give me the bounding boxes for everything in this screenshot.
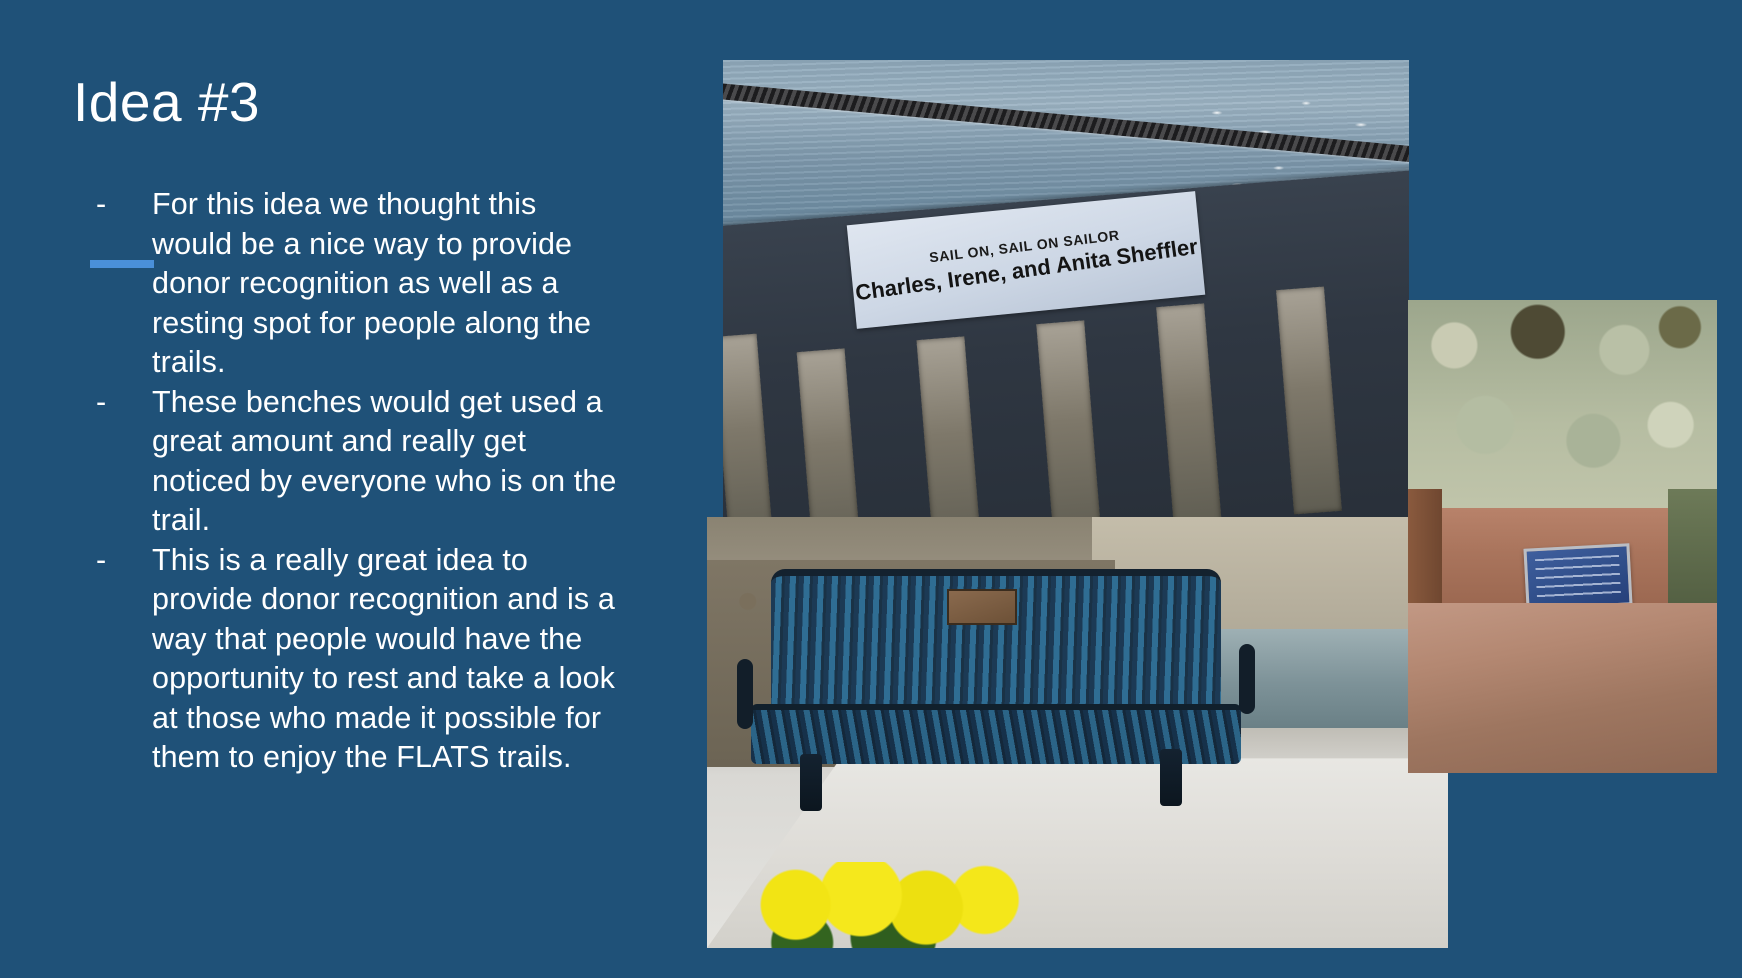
- bullet-list: - For this idea we thought this would be…: [95, 185, 625, 778]
- bench-donor-plaque: [947, 589, 1017, 625]
- bullet-text: These benches would get used a great amo…: [152, 385, 616, 538]
- blue-donor-plaque: [1524, 543, 1633, 610]
- presentation-slide: Idea #3 - For this idea we thought this …: [0, 0, 1742, 978]
- bullet-dash-marker: -: [96, 185, 106, 225]
- bullet-dash-marker: -: [96, 383, 106, 423]
- metal-bench-back-by-lake-photo: SAIL ON, SAIL ON SAILOR Charles, Irene, …: [723, 60, 1409, 571]
- bench-armrest-left: [737, 659, 753, 729]
- bench-leg-left: [800, 754, 822, 811]
- list-item: - This is a really great idea to provide…: [95, 541, 625, 778]
- list-item: - For this idea we thought this would be…: [95, 185, 625, 383]
- list-item: - These benches would get used a great a…: [95, 383, 625, 541]
- bench-armrest-right: [1239, 644, 1255, 714]
- blue-metal-park-bench-photo: [707, 517, 1448, 948]
- bullet-dash-marker: -: [96, 541, 106, 581]
- wooden-bench-with-blue-plaque-photo: [1408, 300, 1717, 773]
- wooden-bench-seat: [1408, 603, 1717, 773]
- yellow-mum-flowers: [737, 862, 1063, 948]
- bullet-text: This is a really great idea to provide d…: [152, 543, 615, 775]
- bench-leg-right: [1160, 749, 1182, 806]
- page-title: Idea #3: [73, 72, 260, 133]
- bullet-text: For this idea we thought this would be a…: [152, 187, 591, 379]
- park-bench: [751, 569, 1240, 819]
